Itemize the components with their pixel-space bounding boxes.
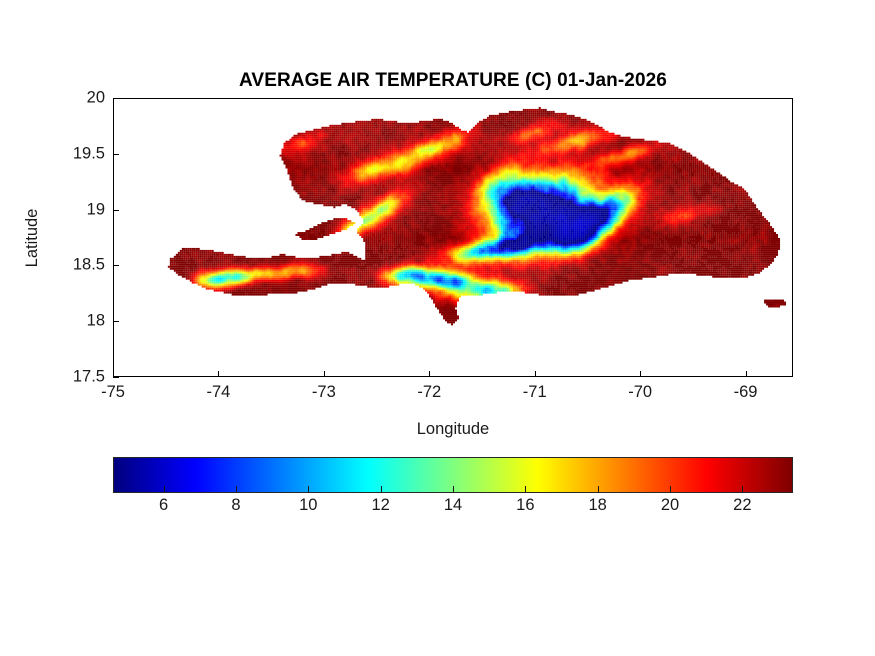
x-tick — [324, 371, 325, 377]
y-axis-label: Latitude — [23, 138, 42, 338]
colorbar-tick-label: 18 — [588, 496, 606, 515]
x-tick-label: -71 — [523, 383, 547, 402]
x-tick — [429, 371, 430, 377]
y-tick — [113, 377, 119, 378]
colorbar-tick — [308, 486, 309, 493]
x-tick-label: -73 — [312, 383, 336, 402]
colorbar — [113, 457, 793, 493]
colorbar-tick — [164, 486, 165, 493]
x-tick-label: -74 — [206, 383, 230, 402]
colorbar-tick-label: 12 — [371, 496, 389, 515]
chart-title: AVERAGE AIR TEMPERATURE (C) 01-Jan-2026 — [113, 70, 793, 92]
colorbar-tick-label: 14 — [444, 496, 462, 515]
y-tick — [113, 210, 119, 211]
colorbar-tick — [598, 486, 599, 493]
colorbar-tick — [670, 486, 671, 493]
x-axis-label: Longitude — [113, 420, 793, 439]
y-tick-label: 19.5 — [47, 144, 105, 163]
colorbar-tick — [381, 486, 382, 493]
colorbar-tick — [742, 486, 743, 493]
y-tick-label: 18.5 — [47, 256, 105, 275]
y-tick-label: 18 — [47, 312, 105, 331]
y-tick — [113, 98, 119, 99]
x-tick — [640, 371, 641, 377]
y-tick — [113, 154, 119, 155]
y-tick-label: 19 — [47, 200, 105, 219]
x-tick — [218, 371, 219, 377]
colorbar-tick-label: 22 — [733, 496, 751, 515]
colorbar-tick — [525, 486, 526, 493]
x-tick-label: -69 — [734, 383, 758, 402]
temperature-heatmap — [114, 99, 792, 376]
colorbar-tick-label: 10 — [299, 496, 317, 515]
x-tick-label: -72 — [417, 383, 441, 402]
colorbar-tick-label: 20 — [661, 496, 679, 515]
colorbar-tick-label: 8 — [231, 496, 240, 515]
y-tick-label: 20 — [47, 89, 105, 108]
colorbar-tick-label: 16 — [516, 496, 534, 515]
colorbar-tick — [453, 486, 454, 493]
colorbar-tick — [236, 486, 237, 493]
colorbar-tick-label: 6 — [159, 496, 168, 515]
y-tick — [113, 321, 119, 322]
x-tick — [535, 371, 536, 377]
y-tick — [113, 265, 119, 266]
map-axes — [113, 98, 793, 377]
x-tick-label: -70 — [628, 383, 652, 402]
x-tick — [746, 371, 747, 377]
y-tick-label: 17.5 — [47, 368, 105, 387]
figure-canvas: AVERAGE AIR TEMPERATURE (C) 01-Jan-2026 … — [0, 0, 875, 656]
